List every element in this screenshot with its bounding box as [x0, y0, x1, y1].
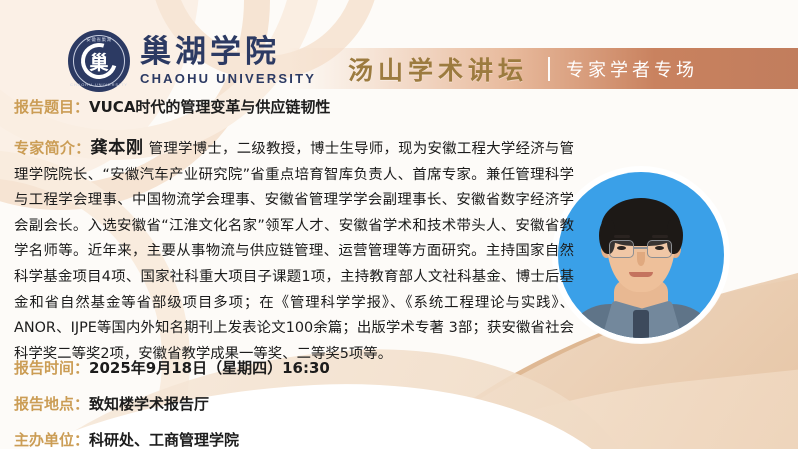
organizer-value: 科研处、工商管理学院	[89, 429, 239, 449]
speaker-label: 专家简介：	[14, 139, 90, 157]
report-title-value: VUCA时代的管理变革与供应链韧性	[89, 96, 330, 117]
report-title-row: 报告题目： VUCA时代的管理变革与供应链韧性	[14, 96, 330, 117]
speaker-bio-text: 管理学博士，二级教授，博士生导师，现为安徽工程大学经济与管理学院院长、“安徽汽车…	[14, 141, 574, 362]
report-place-value: 致知楼学术报告厅	[89, 393, 209, 414]
speaker-bio-block: 专家简介：龚本刚 管理学博士，二级教授，博士生导师，现为安徽工程大学经济与管理学…	[14, 136, 574, 367]
organizer-row: 主办单位： 科研处、工商管理学院	[14, 429, 239, 449]
report-time-label: 报告时间：	[14, 357, 89, 378]
speaker-bio-row: 专家简介：龚本刚 管理学博士，二级教授，博士生导师，现为安徽工程大学经济与管理学…	[14, 136, 574, 367]
organizer-label: 主办单位：	[14, 429, 89, 449]
report-time-value: 2025年9月18日（星期四）16:30	[89, 357, 330, 378]
speaker-name: 龚本刚	[90, 138, 143, 158]
seminar-poster: 汤山学术讲坛 专家学者专场 安徽省巢湖 巢 CHAOHU UNIVERSITY …	[0, 0, 798, 449]
report-title-label: 报告题目：	[14, 96, 89, 117]
poster-content: 报告题目： VUCA时代的管理变革与供应链韧性 专家简介：龚本刚 管理学博士，二…	[0, 0, 798, 449]
report-place-label: 报告地点：	[14, 393, 89, 414]
report-place-row: 报告地点： 致知楼学术报告厅	[14, 393, 209, 414]
report-time-row: 报告时间： 2025年9月18日（星期四）16:30	[14, 357, 330, 378]
